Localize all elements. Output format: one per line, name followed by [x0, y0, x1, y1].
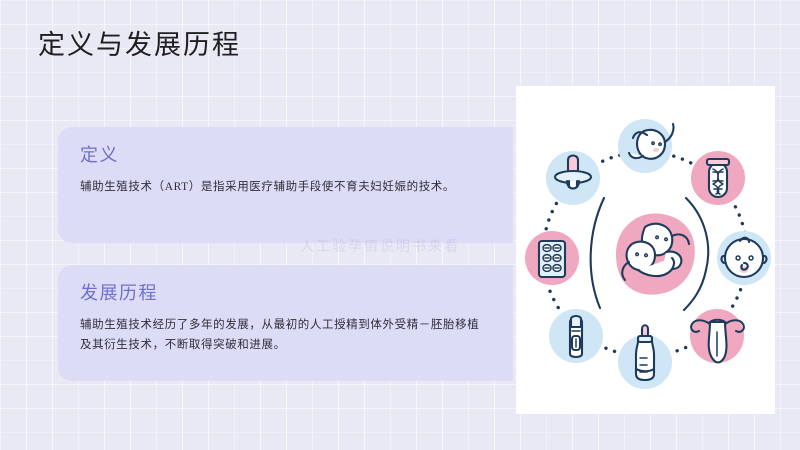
card-history-body: 辅助生殖技术经历了多年的发展，从最初的人工授精到体外受精－胚胎移植及其衍生技术，… [80, 315, 491, 355]
slide-canvas: 定义与发展历程 定义 辅助生殖技术（ART）是指采用医疗辅助手段使不育夫妇妊娠的… [0, 0, 800, 450]
pacifier-icon [546, 151, 600, 205]
card-history: 发展历程 辅助生殖技术经历了多年的发展，从最初的人工授精到体外受精－胚胎移植及其… [58, 265, 513, 381]
card-definition-heading: 定义 [80, 143, 491, 167]
card-definition-body: 辅助生殖技术（ART）是指采用医疗辅助手段使不育夫妇妊娠的技术。 [80, 177, 491, 197]
illustration-panel: .ol{fill:none;stroke:#1f3b5c;stroke-widt… [516, 86, 775, 414]
dna-test-tube-icon [691, 151, 745, 205]
pregnancy-test-icon [549, 309, 603, 363]
page-title: 定义与发展历程 [38, 28, 241, 62]
card-history-heading: 发展历程 [80, 281, 491, 305]
pill-blister-pack-icon [525, 231, 579, 285]
uterus-icon [690, 309, 744, 363]
card-definition: 定义 辅助生殖技术（ART）是指采用医疗辅助手段使不育夫妇妊娠的技术。 [58, 127, 513, 243]
baby-face-icon [717, 231, 771, 285]
